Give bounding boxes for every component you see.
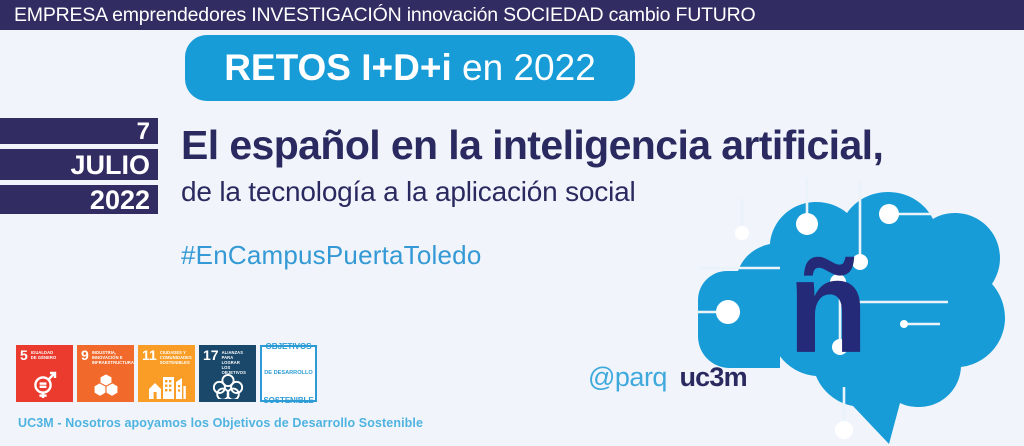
enie-letter: ñ: [788, 233, 869, 380]
partnership-circles-icon: [199, 373, 256, 399]
parq-uc3m-logo: @parq uc3m: [588, 362, 747, 393]
series-badge-bold: RETOS I+D+i: [224, 47, 452, 88]
sdg-tile-17: 17 ALIANZAS PARA LOGRAR LOS OBJETIVOS: [199, 345, 256, 402]
sdg-11-head: 11 CIUDADES Y COMUNIDADES SOSTENIBLES: [138, 345, 195, 365]
date-month: JULIO: [0, 149, 158, 180]
sdg-framework-line3: SOSTENIBLE: [263, 396, 313, 405]
sdg-17-head: 17 ALIANZAS PARA LOGRAR LOS OBJETIVOS: [199, 345, 256, 375]
sdg-5-head: 5 IGUALDAD DE GÉNERO: [16, 345, 73, 362]
city-buildings-icon: [138, 373, 195, 399]
event-poster: EMPRESA emprendedores INVESTIGACIÓN inno…: [0, 0, 1024, 446]
sdg-17-number: 17: [203, 349, 219, 362]
sdg-framework-text: OBJETIVOS DE DESARROLLO SOSTENIBLE: [263, 323, 313, 424]
sdg-17-label: ALIANZAS PARA LOGRAR LOS OBJETIVOS: [222, 349, 253, 375]
sdg-9-number: 9: [81, 349, 89, 362]
logo-prefix: @parq: [588, 362, 667, 392]
sdg-5-label: IGUALDAD DE GÉNERO: [31, 349, 56, 360]
gender-equality-icon: [16, 369, 73, 399]
brain-speech-bubble-circuit-icon: ñ: [640, 172, 1024, 446]
series-badge-text: RETOS I+D+i en 2022: [224, 47, 596, 89]
logo-name: uc3m: [679, 362, 746, 392]
cubes-industry-icon: [77, 373, 134, 399]
series-badge-light: en 2022: [462, 47, 596, 88]
sdg-tile-11: 11 CIUDADES Y COMUNIDADES SOSTENIBLES: [138, 345, 195, 402]
date-block: 7 JULIO 2022: [0, 118, 158, 214]
page-title: El español en la inteligencia artificial…: [181, 124, 971, 167]
sdg-framework-line2: DE DESARROLLO: [263, 370, 313, 377]
sdg-11-number: 11: [142, 349, 157, 362]
sdg-9-head: 9 INDUSTRIA, INNOVACIÓN E INFRAESTRUCTUR…: [77, 345, 134, 365]
sdg-footnote: UC3M - Nosotros apoyamos los Objetivos d…: [18, 416, 423, 430]
sdg-11-label: CIUDADES Y COMUNIDADES SOSTENIBLES: [160, 349, 192, 365]
sdg-framework-line1: OBJETIVOS: [263, 342, 313, 352]
event-hashtag: #EnCampusPuertaToledo: [181, 240, 482, 271]
sdg-tile-row: 5 IGUALDAD DE GÉNERO: [16, 345, 317, 402]
sdg-5-number: 5: [20, 349, 28, 362]
keyword-strip: EMPRESA emprendedores INVESTIGACIÓN inno…: [0, 0, 1024, 30]
sdg-tile-9: 9 INDUSTRIA, INNOVACIÓN E INFRAESTRUCTUR…: [77, 345, 134, 402]
sdg-9-label: INDUSTRIA, INNOVACIÓN E INFRAESTRUCTURA: [92, 349, 134, 365]
series-badge: RETOS I+D+i en 2022: [185, 35, 635, 101]
keyword-strip-text: EMPRESA emprendedores INVESTIGACIÓN inno…: [14, 4, 756, 27]
sdg-tile-5: 5 IGUALDAD DE GÉNERO: [16, 345, 73, 402]
date-day: 7: [0, 118, 158, 144]
sdg-framework-tile: OBJETIVOS DE DESARROLLO SOSTENIBLE: [260, 345, 317, 402]
date-year: 2022: [0, 185, 158, 214]
